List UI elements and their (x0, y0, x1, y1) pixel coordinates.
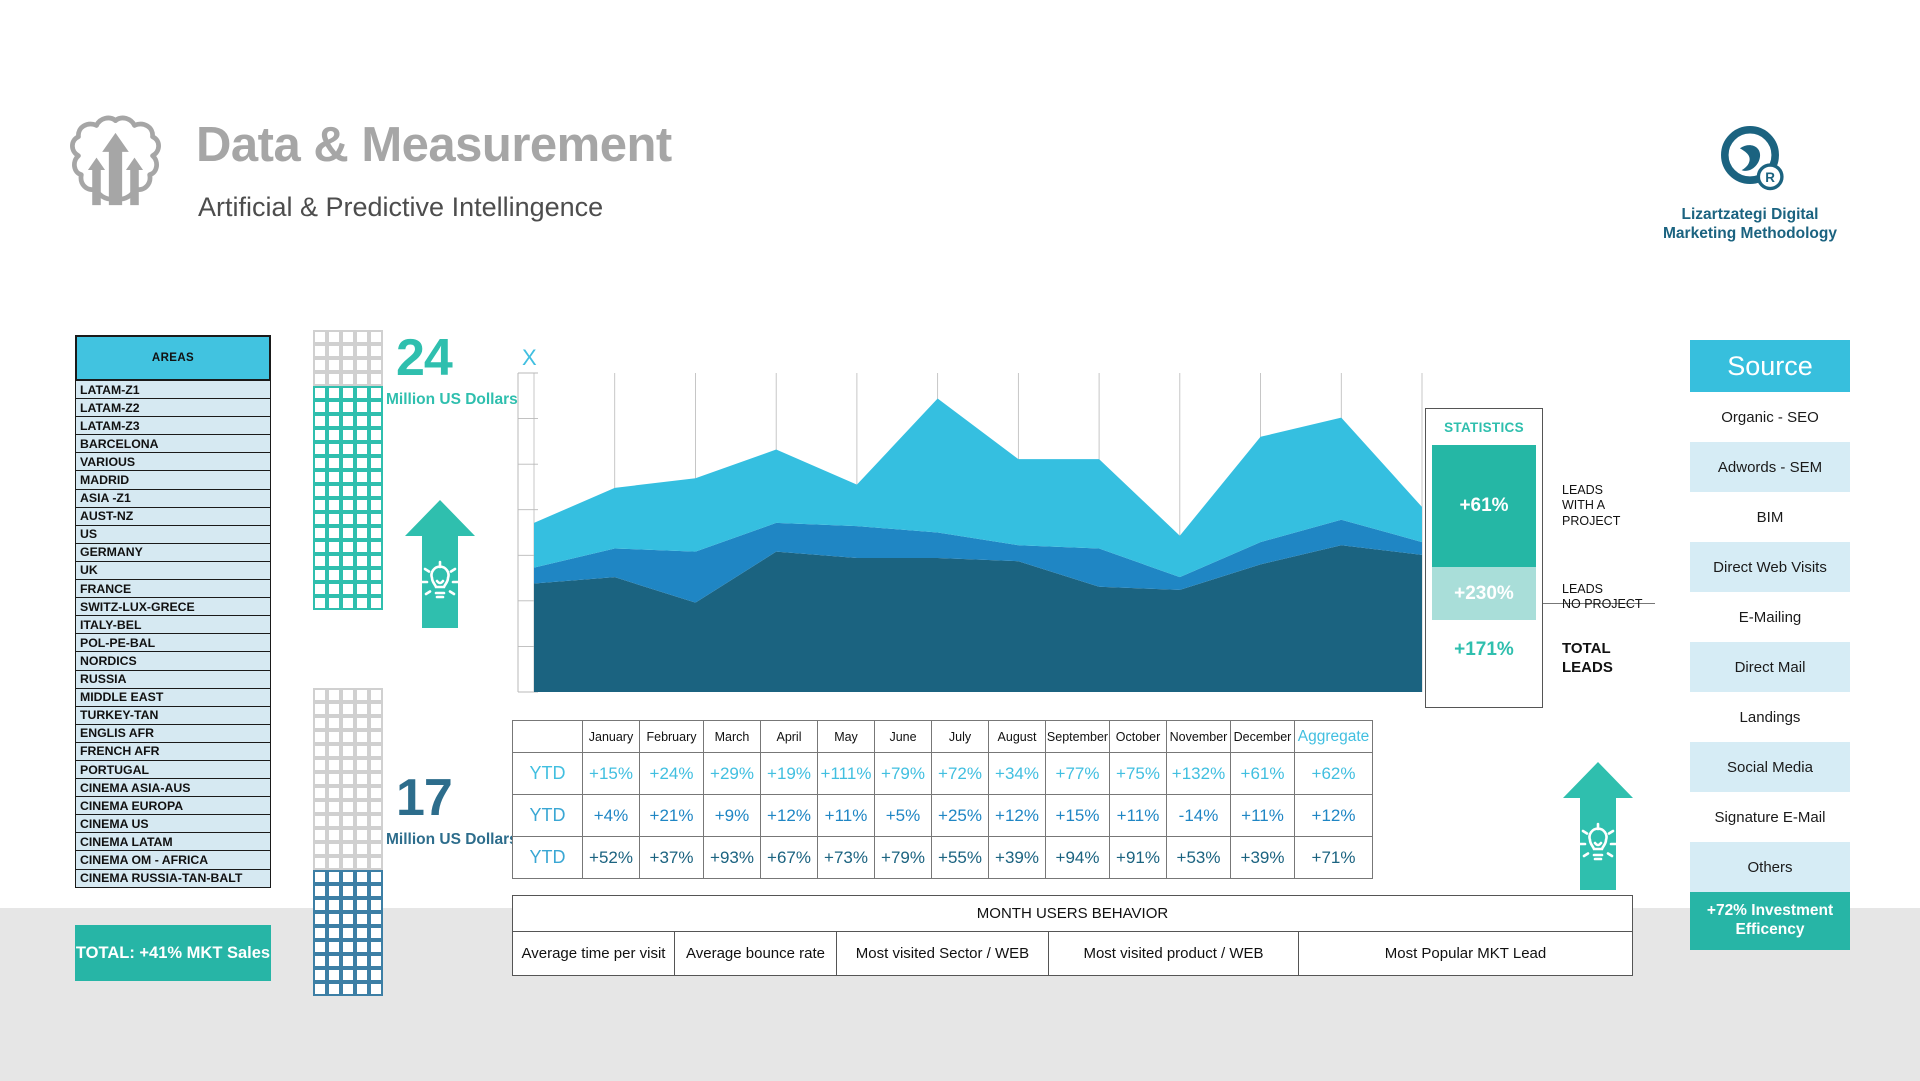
table-cell: +75% (1110, 753, 1167, 795)
grid-bar-cell (341, 758, 355, 772)
grid-bar-cell (327, 442, 341, 456)
table-cell: +94% (1046, 837, 1110, 879)
grid-bar-cell (341, 884, 355, 898)
area-row[interactable]: BARCELONA (75, 435, 271, 453)
behavior-metric-cell[interactable]: Most Popular MKT Lead (1299, 932, 1633, 976)
grid-bar-cell (369, 744, 383, 758)
grid-bar-cell (369, 828, 383, 842)
grid-bar-cell (341, 842, 355, 856)
table-cell: +19% (761, 753, 818, 795)
grid-bar-cell (369, 330, 383, 344)
grid-bar-cell (355, 688, 369, 702)
grid-bar-cell (327, 372, 341, 386)
grid-bar-cell (369, 730, 383, 744)
grid-bar-cell (341, 870, 355, 884)
grid-bar-cell (327, 940, 341, 954)
stat-label-leads-with-project: LEADS WITH A PROJECT (1562, 483, 1620, 529)
stat-segment-leads-with-project: +61% (1432, 445, 1536, 567)
grid-bar-cell (341, 554, 355, 568)
grid-bar-cell (313, 526, 327, 540)
grid-bar-cell (327, 702, 341, 716)
table-cell: +11% (818, 795, 875, 837)
area-row[interactable]: ITALY-BEL (75, 616, 271, 634)
grid-bar-cell (369, 716, 383, 730)
grid-bar-cell (327, 786, 341, 800)
grid-bar-cell (313, 954, 327, 968)
grid-bar-cell (341, 814, 355, 828)
stat-label-line: NO PROJECT (1562, 597, 1643, 612)
source-item[interactable]: Direct Web Visits (1690, 542, 1850, 592)
grid-bar-cell (313, 400, 327, 414)
table-cell: +55% (932, 837, 989, 879)
grid-bar-cell (341, 330, 355, 344)
svg-text:R: R (1765, 170, 1775, 185)
grid-bar-cell (327, 470, 341, 484)
area-row[interactable]: POL-PE-BAL (75, 634, 271, 652)
grid-bar-row (313, 386, 383, 400)
grid-bar-cell (369, 582, 383, 596)
area-row[interactable]: TURKEY-TAN (75, 707, 271, 725)
grid-bar-cell (341, 526, 355, 540)
grid-bar-cell (369, 526, 383, 540)
grid-bar-cell (369, 968, 383, 982)
table-cell: +53% (1167, 837, 1231, 879)
grid-bar-row (313, 540, 383, 554)
grid-bar-cell (355, 940, 369, 954)
month-users-behavior-table: MONTH USERS BEHAVIOR Average time per vi… (512, 895, 1633, 976)
area-row[interactable]: ENGLIS AFR (75, 725, 271, 743)
grid-bar-cell (327, 758, 341, 772)
grid-bar-row (313, 456, 383, 470)
table-cell: +111% (818, 753, 875, 795)
grid-bar-cell (355, 702, 369, 716)
area-row[interactable]: CINEMA RUSSIA-TAN-BALT (75, 870, 271, 888)
grid-bar-cell (369, 372, 383, 386)
grid-bar-cell (327, 772, 341, 786)
source-item[interactable]: Direct Mail (1690, 642, 1850, 692)
source-item[interactable]: Landings (1690, 692, 1850, 742)
grid-bar-cell (369, 898, 383, 912)
table-cell: +21% (640, 795, 704, 837)
table-cell: +9% (704, 795, 761, 837)
grid-bar-cell (313, 386, 327, 400)
grid-bar-row (313, 442, 383, 456)
grid-bar-cell (341, 912, 355, 926)
grid-bar-row (313, 800, 383, 814)
table-row-label: YTD (513, 837, 583, 879)
grid-bar-cell (355, 884, 369, 898)
investment-efficiency-line-1: +72% Investment (1707, 902, 1833, 921)
area-row[interactable]: ASIA -Z1 (75, 490, 271, 508)
stat-label-line: TOTAL (1562, 640, 1613, 659)
grid-bar-cell (341, 414, 355, 428)
grid-bar-cell (313, 772, 327, 786)
grid-bar-cell (355, 456, 369, 470)
grid-bar-cell (341, 498, 355, 512)
grid-bar-cell (327, 730, 341, 744)
grid-bar-cell (369, 926, 383, 940)
grid-bar-cell (313, 982, 327, 996)
kpi-grid-bar-teal (313, 330, 383, 610)
grid-bar-cell (341, 372, 355, 386)
grid-bar-cell (341, 568, 355, 582)
grid-bar-cell (327, 688, 341, 702)
grid-bar-cell (355, 926, 369, 940)
grid-bar-row (313, 428, 383, 442)
table-cell: +39% (989, 837, 1046, 879)
table-cell: +61% (1231, 753, 1295, 795)
investment-efficiency-badge: +72% Investment Efficency (1690, 892, 1850, 950)
grid-bar-cell (369, 554, 383, 568)
grid-bar-cell (369, 856, 383, 870)
grid-bar-row (313, 688, 383, 702)
grid-bar-cell (369, 596, 383, 610)
grid-bar-cell (313, 498, 327, 512)
table-col-header: October (1110, 721, 1167, 753)
grid-bar-cell (327, 330, 341, 344)
grid-bar-cell (327, 842, 341, 856)
grid-bar-cell (313, 730, 327, 744)
grid-bar-cell (313, 554, 327, 568)
grid-bar-cell (341, 702, 355, 716)
grid-bar-cell (369, 470, 383, 484)
grid-bar-row (313, 596, 383, 610)
grid-bar-cell (369, 940, 383, 954)
grid-bar-cell (355, 870, 369, 884)
kpi-value-1: 24 (396, 332, 452, 384)
grid-bar-row (313, 526, 383, 540)
area-row[interactable]: CINEMA ASIA-AUS (75, 779, 271, 797)
stat-label-line: LEADS (1562, 483, 1620, 498)
grid-bar-cell (313, 596, 327, 610)
grid-bar-cell (355, 442, 369, 456)
grid-bar-cell (355, 358, 369, 372)
grid-bar-cell (369, 344, 383, 358)
grid-bar-cell (327, 926, 341, 940)
grid-bar-cell (355, 428, 369, 442)
grid-bar-cell (327, 582, 341, 596)
grid-bar-cell (355, 912, 369, 926)
source-item[interactable]: Social Media (1690, 742, 1850, 792)
grid-bar-cell (341, 688, 355, 702)
grid-bar-cell (355, 968, 369, 982)
grid-bar-cell (369, 540, 383, 554)
table-cell: +5% (875, 795, 932, 837)
table-cell: +12% (1295, 795, 1373, 837)
grid-bar-cell (369, 800, 383, 814)
grid-bar-cell (327, 954, 341, 968)
grid-bar-cell (341, 982, 355, 996)
area-row[interactable]: AUST-NZ (75, 508, 271, 526)
area-row[interactable]: VARIOUS (75, 453, 271, 471)
grid-bar-cell (341, 512, 355, 526)
monthly-ytd-table: JanuaryFebruaryMarchAprilMayJuneJulyAugu… (512, 720, 1373, 879)
area-row[interactable]: NORDICS (75, 652, 271, 670)
grid-bar-cell (355, 842, 369, 856)
grid-bar-cell (369, 386, 383, 400)
grid-bar-cell (327, 912, 341, 926)
grid-bar-row (313, 358, 383, 372)
stat-label-total-leads: TOTAL LEADS (1562, 640, 1613, 678)
table-col-header: Aggregate (1295, 721, 1373, 753)
grid-bar-cell (327, 716, 341, 730)
grid-bar-cell (355, 582, 369, 596)
grid-bar-cell (355, 498, 369, 512)
grid-bar-cell (327, 968, 341, 982)
table-cell: +62% (1295, 753, 1373, 795)
grid-bar-cell (341, 968, 355, 982)
grid-bar-cell (313, 372, 327, 386)
table-cell: +34% (989, 753, 1046, 795)
table-cell: +12% (989, 795, 1046, 837)
grid-bar-cell (355, 786, 369, 800)
grid-bar-cell (313, 540, 327, 554)
grid-bar-row (313, 716, 383, 730)
area-row[interactable]: MIDDLE EAST (75, 689, 271, 707)
table-col-header: May (818, 721, 875, 753)
grid-bar-cell (369, 498, 383, 512)
source-header: Source (1690, 340, 1850, 392)
grid-bar-cell (327, 540, 341, 554)
area-row[interactable]: FRENCH AFR (75, 743, 271, 761)
table-cell: +67% (761, 837, 818, 879)
grid-bar-cell (313, 330, 327, 344)
grid-bar-cell (369, 870, 383, 884)
lizartzategi-circle-r-icon: R (1708, 118, 1792, 202)
source-item[interactable]: Organic - SEO (1690, 392, 1850, 442)
grid-bar-cell (313, 870, 327, 884)
table-col-header: April (761, 721, 818, 753)
area-row[interactable]: GERMANY (75, 544, 271, 562)
source-item[interactable]: E-Mailing (1690, 592, 1850, 642)
grid-bar-cell (327, 800, 341, 814)
grid-bar-cell (369, 884, 383, 898)
grid-bar-cell (341, 400, 355, 414)
grid-bar-cell (355, 568, 369, 582)
area-row[interactable]: FRANCE (75, 580, 271, 598)
area-row[interactable]: SWITZ-LUX-GRECE (75, 598, 271, 616)
grid-bar-row (313, 968, 383, 982)
grid-bar-cell (341, 442, 355, 456)
table-cell: +93% (704, 837, 761, 879)
grid-bar-cell (355, 744, 369, 758)
area-row[interactable]: CINEMA OM - AFRICA (75, 851, 271, 869)
grid-bar-cell (313, 688, 327, 702)
grid-bar-cell (355, 800, 369, 814)
grid-bar-cell (327, 400, 341, 414)
grid-bar-cell (341, 940, 355, 954)
behavior-metric-cell[interactable]: Most visited product / WEB (1049, 932, 1299, 976)
total-mkt-sales-badge: TOTAL: +41% MKT Sales (75, 925, 271, 981)
page-title: Data & Measurement (196, 117, 672, 173)
grid-bar-cell (355, 330, 369, 344)
grid-bar-cell (313, 414, 327, 428)
grid-bar-row (313, 898, 383, 912)
grid-bar-cell (355, 716, 369, 730)
grid-bar-cell (313, 926, 327, 940)
behavior-metric-cell[interactable]: Most visited Sector / WEB (837, 932, 1049, 976)
grid-bar-cell (341, 772, 355, 786)
areas-header: AREAS (75, 335, 271, 381)
table-cell: +52% (583, 837, 640, 879)
grid-bar-cell (327, 814, 341, 828)
grid-bar-row (313, 470, 383, 484)
behavior-table-row: Average time per visitAverage bounce rat… (513, 932, 1633, 976)
grid-bar-row (313, 498, 383, 512)
grid-bar-cell (313, 512, 327, 526)
grid-bar-cell (327, 456, 341, 470)
table-col-header: March (704, 721, 761, 753)
logo-line-1: Lizartzategi Digital (1640, 206, 1860, 225)
table-cell: +71% (1295, 837, 1373, 879)
grid-bar-row (313, 982, 383, 996)
areas-panel: AREAS LATAM-Z1LATAM-Z2LATAM-Z3BARCELONAV… (75, 335, 271, 888)
area-row[interactable]: CINEMA US (75, 815, 271, 833)
source-item[interactable]: BIM (1690, 492, 1850, 542)
grid-bar-row (313, 954, 383, 968)
grid-bar-cell (327, 884, 341, 898)
stat-segment-leads-no-project: +230% (1432, 567, 1536, 620)
grid-bar-cell (355, 386, 369, 400)
table-cell: +37% (640, 837, 704, 879)
table-row-label: YTD (513, 795, 583, 837)
grid-bar-cell (355, 344, 369, 358)
grid-bar-cell (327, 498, 341, 512)
grid-bar-cell (355, 540, 369, 554)
table-col-header: December (1231, 721, 1295, 753)
grid-bar-cell (327, 856, 341, 870)
grid-bar-cell (355, 828, 369, 842)
grid-bar-cell (341, 954, 355, 968)
table-col-header: August (989, 721, 1046, 753)
table-row-label: YTD (513, 753, 583, 795)
table-header-row: JanuaryFebruaryMarchAprilMayJuneJulyAugu… (513, 721, 1373, 753)
table-col-header: July (932, 721, 989, 753)
grid-bar-cell (355, 512, 369, 526)
grid-bar-cell (313, 568, 327, 582)
grid-bar-cell (327, 554, 341, 568)
investment-efficiency-line-2: Efficency (1707, 921, 1833, 940)
grid-bar-cell (355, 856, 369, 870)
grid-bar-cell (341, 828, 355, 842)
table-cell: +79% (875, 837, 932, 879)
grid-bar-cell (313, 912, 327, 926)
grid-bar-row (313, 842, 383, 856)
grid-bar-cell (327, 982, 341, 996)
grid-bar-cell (369, 442, 383, 456)
grid-bar-cell (369, 456, 383, 470)
table-cell: +72% (932, 753, 989, 795)
table-row: YTD+4%+21%+9%+12%+11%+5%+25%+12%+15%+11%… (513, 795, 1373, 837)
area-row[interactable]: UK (75, 562, 271, 580)
grid-bar-cell (369, 842, 383, 856)
area-row[interactable]: LATAM-Z2 (75, 399, 271, 417)
grid-bar-cell (355, 414, 369, 428)
grid-bar-row (313, 400, 383, 414)
grid-bar-cell (327, 828, 341, 842)
table-corner-cell (513, 721, 583, 753)
grid-bar-cell (313, 940, 327, 954)
behavior-table-header: MONTH USERS BEHAVIOR (513, 896, 1633, 932)
source-list: Organic - SEOAdwords - SEMBIMDirect Web … (1690, 392, 1850, 892)
grid-bar-row (313, 926, 383, 940)
grid-bar-row (313, 568, 383, 582)
grid-bar-cell (341, 456, 355, 470)
grid-bar-row (313, 772, 383, 786)
table-cell: +73% (818, 837, 875, 879)
area-row[interactable]: US (75, 526, 271, 544)
grid-bar-cell (341, 898, 355, 912)
grid-bar-cell (355, 954, 369, 968)
grid-bar-cell (313, 716, 327, 730)
area-row[interactable]: CINEMA EUROPA (75, 797, 271, 815)
grid-bar-row (313, 814, 383, 828)
grid-bar-row (313, 912, 383, 926)
source-item[interactable]: Others (1690, 842, 1850, 892)
area-row[interactable]: MADRID (75, 471, 271, 489)
grid-bar-cell (313, 470, 327, 484)
grid-bar-cell (341, 358, 355, 372)
grid-bar-cell (369, 954, 383, 968)
grid-bar-cell (369, 688, 383, 702)
grid-bar-cell (355, 814, 369, 828)
up-arrow-lightbulb-icon (405, 500, 475, 628)
grid-bar-cell (369, 512, 383, 526)
grid-bar-cell (313, 814, 327, 828)
grid-bar-row (313, 828, 383, 842)
source-item[interactable]: Adwords - SEM (1690, 442, 1850, 492)
grid-bar-cell (355, 484, 369, 498)
grid-bar-cell (341, 926, 355, 940)
grid-bar-cell (327, 414, 341, 428)
source-item[interactable]: Signature E-Mail (1690, 792, 1850, 842)
area-row[interactable]: LATAM-Z1 (75, 381, 271, 399)
area-row[interactable]: RUSSIA (75, 671, 271, 689)
grid-bar-cell (355, 758, 369, 772)
stat-label-line: LEADS (1562, 659, 1613, 678)
areas-list: LATAM-Z1LATAM-Z2LATAM-Z3BARCELONAVARIOUS… (75, 381, 271, 888)
grid-bar-cell (369, 702, 383, 716)
stat-segment-total-leads: +171% (1426, 620, 1542, 680)
page-subtitle: Artificial & Predictive Intellingence (198, 192, 603, 223)
behavior-metric-cell[interactable]: Average time per visit (513, 932, 675, 976)
behavior-metric-cell[interactable]: Average bounce rate (675, 932, 837, 976)
area-row[interactable]: LATAM-Z3 (75, 417, 271, 435)
grid-bar-cell (327, 512, 341, 526)
source-panel: Source Organic - SEOAdwords - SEMBIMDire… (1690, 340, 1850, 950)
stat-label-line: PROJECT (1562, 514, 1620, 529)
grid-bar-row (313, 372, 383, 386)
brain-arrows-icon (68, 110, 163, 210)
area-row[interactable]: PORTUGAL (75, 761, 271, 779)
area-row[interactable]: CINEMA LATAM (75, 833, 271, 851)
table-cell: +12% (761, 795, 818, 837)
grid-bar-row (313, 512, 383, 526)
grid-bar-cell (327, 526, 341, 540)
table-row: YTD+15%+24%+29%+19%+111%+79%+72%+34%+77%… (513, 753, 1373, 795)
grid-bar-cell (369, 982, 383, 996)
table-cell: +11% (1110, 795, 1167, 837)
table-cell: +11% (1231, 795, 1295, 837)
table-cell: +25% (932, 795, 989, 837)
grid-bar-cell (313, 968, 327, 982)
grid-bar-cell (369, 400, 383, 414)
grid-bar-cell (341, 582, 355, 596)
grid-bar-cell (369, 484, 383, 498)
stat-label-leads-no-project: LEADS NO PROJECT (1562, 582, 1643, 613)
table-col-header: January (583, 721, 640, 753)
grid-bar-row (313, 786, 383, 800)
